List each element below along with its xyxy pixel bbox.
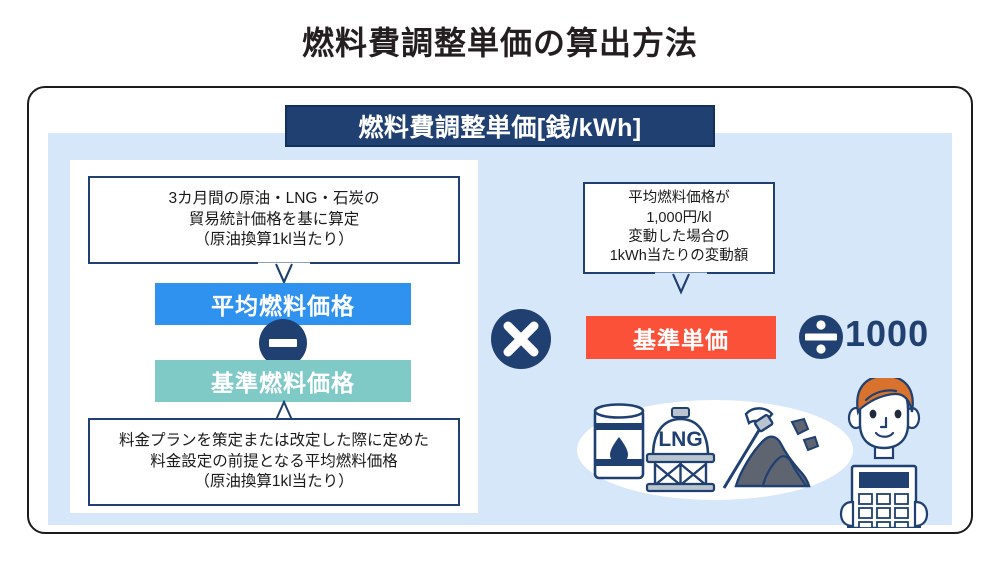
standard-fuel-price-definition-box: 料金プランを策定または改定した際に定めた 料金設定の前提となる平均燃料価格 （原… bbox=[88, 418, 460, 506]
divide-circle-icon bbox=[798, 314, 844, 360]
base-def-line-3: 変動した場合の bbox=[628, 228, 730, 247]
divisor-value: 1000 bbox=[845, 313, 929, 355]
oil-drum-icon bbox=[595, 405, 643, 479]
fuel-price-source-box: 3カ月間の原油・LNG・石炭の 貿易統計価格を基に算定 （原油換算1kl当たり） bbox=[88, 176, 460, 264]
lng-tank-label: LNG bbox=[658, 428, 702, 451]
base-def-line-4: 1kWh当たりの変動額 bbox=[610, 247, 749, 266]
base-unit-price-definition-box: 平均燃料価格が 1,000円/kl 変動した場合の 1kWh当たりの変動額 bbox=[583, 182, 775, 274]
fuel-price-source-line-3: （原油換算1kl当たり） bbox=[194, 230, 353, 251]
standard-def-line-1: 料金プランを策定または改定した際に定めた bbox=[119, 431, 429, 452]
fuel-price-source-line-2: 貿易統計価格を基に算定 bbox=[189, 210, 360, 231]
infographic-root: 燃料費調整単価の算出方法 燃料費調整単価[銭/kWh] 3カ月間の原油・LNG・… bbox=[0, 0, 1000, 563]
person-with-calculator-icon bbox=[841, 378, 927, 528]
base-unit-price-box: 基準単価 bbox=[586, 316, 776, 359]
base-def-line-2: 1,000円/kl bbox=[646, 209, 711, 228]
standard-def-line-2: 料金設定の前提となる平均燃料価格 bbox=[150, 452, 398, 473]
connector-notch-right bbox=[655, 272, 707, 296]
standard-def-line-3: （原油換算1kl当たり） bbox=[194, 472, 353, 493]
page-title: 燃料費調整単価の算出方法 bbox=[0, 18, 1000, 64]
standard-fuel-price-bar: 基準燃料価格 bbox=[155, 360, 411, 402]
banner-title: 燃料費調整単価[銭/kWh] bbox=[285, 105, 715, 147]
fuel-sources-illustration: LNG bbox=[560, 378, 960, 528]
base-def-line-1: 平均燃料価格が bbox=[628, 189, 730, 208]
fuel-price-source-line-1: 3カ月間の原油・LNG・石炭の bbox=[169, 189, 380, 210]
multiply-circle-icon bbox=[490, 308, 552, 370]
